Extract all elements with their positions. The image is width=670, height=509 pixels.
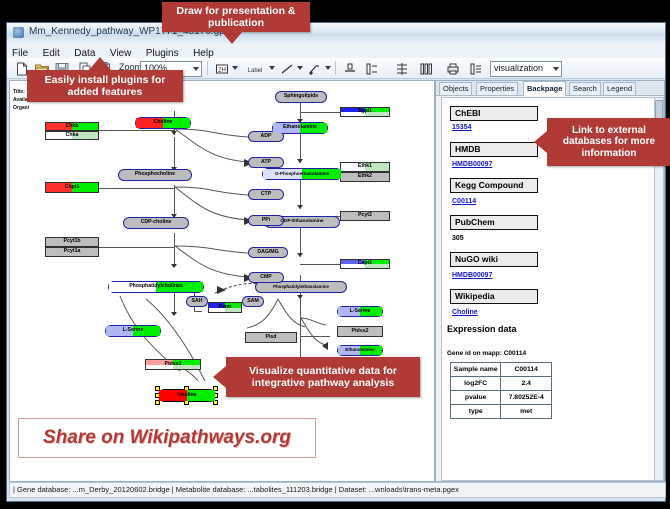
distribute-icon[interactable] (417, 60, 435, 78)
metabolite-node-ppi[interactable]: PPi (248, 215, 284, 226)
link-nugo[interactable]: HMDB00097 (452, 272, 492, 279)
enzyme-line (99, 130, 175, 131)
metabolite-node-l-serine-2[interactable]: L-Serine (337, 306, 383, 317)
metabolite-node-sah[interactable]: SAH (186, 296, 208, 307)
section-header-hmdb: HMDB (450, 142, 538, 157)
order-icon[interactable] (467, 60, 485, 78)
cell-value: 2.4 (501, 377, 552, 391)
title-bar: Mm_Kennedy_pathway_WP1771_45176.gpml (7, 23, 665, 44)
stack-icon[interactable] (393, 60, 411, 78)
metabolite-node-o-phosphoethanolamine[interactable]: O-Phosphoethanolamine (262, 168, 342, 180)
value-pubchem: 305 (452, 235, 464, 242)
datanode-dropdown-icon[interactable] (232, 66, 238, 70)
link-wikipedia[interactable]: Choline (452, 309, 478, 316)
metabolite-node-sphingolipids[interactable]: Sphingolipids (275, 91, 327, 103)
gene-node-sgpl1[interactable]: Sgpl1 (340, 107, 390, 117)
section-header-kegg: Kegg Compound (450, 178, 538, 193)
datanode-icon[interactable]: 2H (213, 60, 231, 78)
metabolite-node-choline-selected[interactable]: Choline (158, 389, 216, 402)
tab-backpage[interactable]: Backpage (523, 81, 566, 96)
flow-line (174, 185, 175, 217)
node-label: Phosphocholine (135, 172, 175, 177)
cell-key: Sample name (451, 363, 501, 377)
node-label: CTP (261, 192, 271, 197)
node-label: Pemt (219, 305, 232, 310)
flow-line (174, 233, 175, 267)
plugins-callout: Easily install plugins for added feature… (27, 70, 183, 102)
tab-search[interactable]: Search (569, 82, 601, 95)
svg-text:Label: Label (248, 68, 263, 74)
interaction-dropdown-icon[interactable] (325, 66, 331, 70)
status-bar: | Gene database: ...m_Derby_20120602.bri… (9, 482, 666, 498)
external-links-callout-arrow (534, 131, 547, 153)
arrow-head (171, 312, 177, 316)
node-label: CDP-Ethanolamine (280, 220, 323, 225)
screenshot-root: Mm_Kennedy_pathway_WP1771_45176.gpml Fil… (0, 0, 670, 509)
node-label: Pcyt1a (64, 249, 81, 254)
app-logo-icon (13, 27, 24, 38)
visualize-callout-arrow (213, 366, 226, 388)
cell-value: C00114 (501, 363, 552, 377)
node-label: Ptdss2 (351, 329, 368, 334)
gene-node-chpt1[interactable]: Chpt1 (45, 182, 99, 193)
enzyme-line (99, 188, 175, 189)
node-label: Choline (177, 393, 196, 398)
chevron-down-icon-2 (553, 67, 559, 71)
table-row: Sample name C00114 (451, 363, 552, 377)
table-row: type met (451, 405, 552, 419)
cell-value: 7.80252E-4 (501, 391, 552, 405)
gene-node-chka[interactable]: Chka (45, 131, 99, 140)
node-label: Choline (153, 120, 172, 125)
metabolite-node-ctp[interactable]: CTP (248, 189, 284, 200)
gene-node-ethk1[interactable]: Ethk1 (340, 162, 390, 172)
node-label: Chpt1 (65, 185, 80, 190)
metabolite-node-cmp[interactable]: CMP (248, 272, 284, 283)
section-header-pubchem: PubChem (450, 215, 538, 230)
interaction-icon[interactable] (306, 60, 324, 78)
arrow-head (297, 253, 303, 257)
label-icon[interactable]: Label (241, 60, 269, 78)
gene-node-ptdss1[interactable]: Ptdss1 (145, 359, 201, 370)
node-label: Pcyt1b (63, 239, 80, 244)
metabolite-node-sam[interactable]: SAM (242, 296, 264, 307)
tab-objects[interactable]: Objects (439, 82, 472, 95)
toolbar-separator-2 (335, 61, 336, 75)
share-callout-text: Share on Wikipathways.org (43, 427, 291, 449)
metabolite-node-ethanolamine[interactable]: Ethanolamine (272, 122, 328, 134)
chevron-down-icon (193, 67, 199, 71)
metabolite-node-cdp-choline[interactable]: CDP-choline (123, 217, 189, 229)
arrow-head (297, 159, 303, 163)
metabolite-node-choline[interactable]: Choline (135, 117, 191, 129)
group-icon[interactable] (363, 60, 381, 78)
arrow-head (297, 205, 303, 209)
node-label: CMP (260, 275, 272, 280)
node-label: L-Serine (123, 328, 144, 333)
gene-node-ptdss2[interactable]: Ptdss2 (337, 326, 383, 337)
gene-node-cept1[interactable]: Cept1 (340, 259, 390, 269)
node-label: Pisd (266, 335, 277, 340)
table-row: log2FC 2.4 (451, 377, 552, 391)
node-label: Sphingolipids (284, 94, 318, 99)
align-icon[interactable] (341, 60, 359, 78)
visualization-value: visualization (494, 63, 543, 73)
node-label: ATP (261, 160, 271, 165)
metabolite-node-ethanolamine-2[interactable]: Ethanolamine (337, 345, 383, 356)
cell-value: met (501, 405, 552, 419)
node-label: Ethk1 (358, 164, 372, 169)
node-label: SAH (192, 299, 203, 304)
canvas-avail-label: Availa (13, 97, 28, 103)
external-links-callout: Link to external databases for more info… (547, 118, 670, 166)
node-label: Chka (66, 133, 79, 138)
print-icon[interactable] (444, 60, 462, 78)
flow-line (174, 137, 175, 171)
node-label: CDP-choline (141, 220, 172, 225)
section-header-chebi: ChEBI (450, 106, 538, 121)
metabolite-node-phosphatidylcholines[interactable]: Phosphatidylcholines (108, 281, 204, 293)
gene-node-pisd[interactable]: Pisd (245, 332, 297, 343)
gene-node-pcyt1b[interactable]: Pcyt1b (45, 237, 99, 247)
tab-legend[interactable]: Legend (603, 82, 636, 95)
link-kegg[interactable]: C00114 (452, 198, 476, 205)
node-label: Pcyt2 (358, 213, 372, 218)
metabolite-node-dag-mg[interactable]: DAG/MG (248, 247, 288, 258)
gene-node-pcyt1a[interactable]: Pcyt1a (45, 247, 99, 257)
gene-node-chkb[interactable]: Chkb (45, 122, 99, 131)
node-label: Phosphatidylethanolamine (273, 285, 329, 289)
enzyme-line (300, 264, 340, 265)
line-icon[interactable] (278, 60, 296, 78)
section-header-nugo: NuGO wiki (450, 252, 538, 267)
expression-table: Sample name C00114 log2FC 2.4 pvalue 7.8… (450, 362, 552, 419)
enzyme-line (99, 247, 175, 248)
gene-node-ethk2[interactable]: Ethk2 (340, 172, 390, 182)
enzyme-line (300, 336, 330, 337)
node-label: Ethanolamine (283, 125, 317, 130)
canvas-title-label: Title: (13, 89, 25, 95)
metabolite-node-atp[interactable]: ATP (248, 157, 284, 168)
cell-key: log2FC (451, 377, 501, 391)
node-label: Ethk2 (358, 174, 372, 179)
draw-callout: Draw for presentation & publication (162, 2, 310, 32)
metabolite-node-l-serine[interactable]: L-Serine (105, 325, 161, 337)
line-dropdown-icon[interactable] (297, 66, 303, 70)
node-label: Sgpl1 (358, 109, 372, 114)
arrow-head (171, 131, 177, 135)
side-panel-tabs: Objects Properties Backpage Search Legen… (436, 81, 664, 96)
toolbar-separator (207, 61, 208, 75)
node-label: Ethanolamine (345, 348, 375, 353)
label-dropdown-icon[interactable] (269, 66, 275, 70)
node-label: Cept1 (358, 261, 372, 266)
metabolite-node-phosphocholine[interactable]: Phosphocholine (118, 169, 192, 181)
draw-callout-arrow (221, 31, 243, 44)
visualization-combo[interactable]: visualization (490, 61, 562, 77)
node-label: SAM (247, 299, 259, 304)
canvas-organism-label: Organi (13, 105, 29, 111)
expression-data-heading: Expression data (447, 324, 517, 334)
table-row: pvalue 7.80252E-4 (451, 391, 552, 405)
plugins-callout-arrow (89, 57, 111, 70)
share-callout: Share on Wikipathways.org (18, 418, 316, 458)
enzyme-line (300, 112, 340, 113)
link-chebi[interactable]: 15354 (452, 124, 471, 131)
gene-node-pemt[interactable]: Pemt (208, 302, 242, 313)
section-header-wikipedia: Wikipedia (450, 289, 538, 304)
node-label: Chkb (66, 124, 79, 129)
node-label: PPi (262, 218, 270, 223)
gene-id-on-mapp: Gene id on mapp: C00114 (447, 350, 526, 357)
arrow-head (171, 264, 177, 268)
visualize-callout: Visualize quantitative data for integrat… (226, 357, 420, 397)
node-label: Phosphatidylcholines (129, 284, 183, 289)
node-label: ADP (261, 134, 272, 139)
tab-properties[interactable]: Properties (476, 82, 518, 95)
gene-node-pcyt2[interactable]: Pcyt2 (340, 211, 390, 221)
node-label: Ptdss1 (164, 362, 181, 367)
cell-key: type (451, 405, 501, 419)
node-label: L-Serine (350, 309, 371, 314)
node-label: O-Phosphoethanolamine (275, 172, 329, 177)
node-label: DAG/MG (257, 250, 278, 255)
link-hmdb[interactable]: HMDB00097 (452, 161, 492, 168)
cell-key: pvalue (451, 391, 501, 405)
enzyme-line (194, 311, 202, 312)
svg-text:2H: 2H (218, 68, 226, 74)
